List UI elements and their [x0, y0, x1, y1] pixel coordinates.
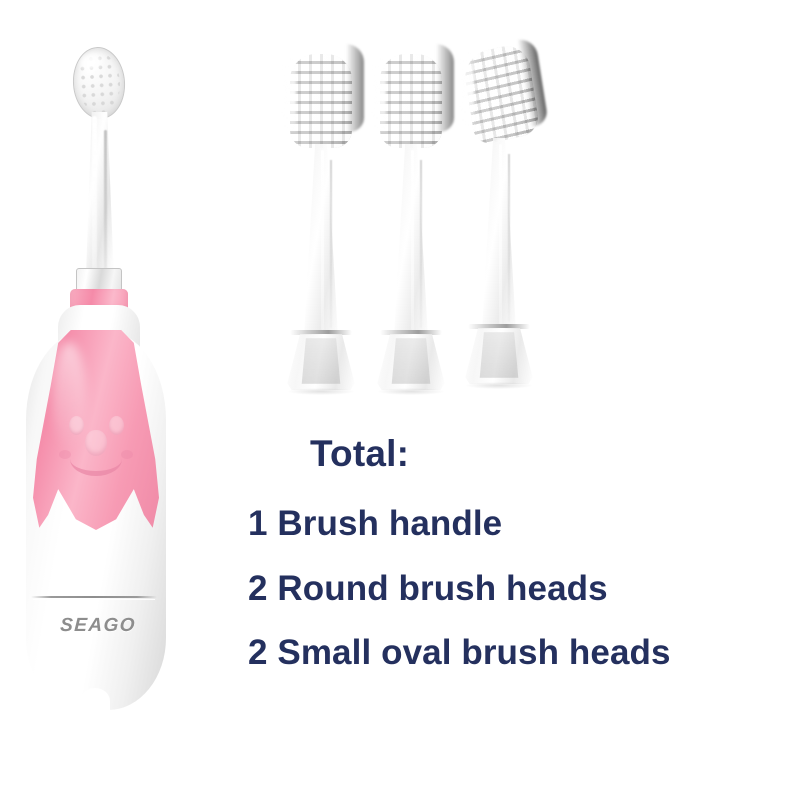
stem-highlight [411, 150, 414, 330]
brand-logo: SEAGO [51, 615, 144, 637]
smiley-face-icon [33, 330, 159, 545]
bristle-block-icon [380, 54, 442, 148]
replacement-brush-head-2 [368, 40, 454, 410]
brush-head-base-inner [300, 338, 342, 384]
face-smile-icon [70, 442, 122, 476]
replacement-brush-head-1 [278, 40, 364, 410]
brush-head-base-inner [478, 332, 520, 378]
stem-edge-shadow [330, 160, 332, 328]
stem-edge-shadow [420, 160, 422, 328]
bristle-left-highlight [460, 52, 474, 126]
brush-head-neck [80, 112, 119, 290]
stem-edge-shadow [508, 154, 510, 322]
package-contents-list: Total: 1 Brush handle 2 Round brush head… [248, 430, 718, 676]
bristle-left-highlight [282, 58, 296, 132]
handle-base-notch [80, 688, 110, 714]
package-contents-item-3: 2 Small oval brush heads [248, 630, 718, 676]
bristle-block-icon [290, 54, 352, 148]
toothbrush-handle-assembly: SEAGO [0, 0, 210, 760]
replacement-brush-heads-group [260, 30, 580, 410]
replacement-brush-head-3 [456, 34, 542, 404]
handle-seam-line [31, 596, 157, 598]
bristle-right-shadow [346, 44, 364, 132]
face-cheek-left-icon [59, 450, 71, 459]
face-eye-left-icon [69, 416, 84, 435]
bristle-right-shadow [436, 44, 454, 132]
stem-highlight [321, 150, 324, 330]
attached-brush-head-icon [71, 45, 128, 120]
product-image-canvas: SEAGO [0, 0, 800, 800]
bristle-left-highlight [372, 58, 386, 132]
brush-head-drop-shadow [378, 388, 444, 395]
package-contents-item-2: 2 Round brush heads [248, 566, 718, 612]
handle-seam-highlight [33, 599, 155, 600]
brush-head-drop-shadow [288, 388, 354, 395]
package-contents-title: Total: [248, 430, 718, 477]
package-contents-item-1: 1 Brush handle [248, 501, 718, 547]
face-eye-right-icon [109, 416, 124, 435]
brush-head-drop-shadow [466, 382, 532, 389]
neck-highlight [92, 116, 97, 282]
face-cheek-right-icon [121, 450, 133, 459]
neck-edge-shadow [104, 130, 107, 280]
brush-head-base-inner [390, 338, 432, 384]
stem-highlight [499, 144, 502, 324]
